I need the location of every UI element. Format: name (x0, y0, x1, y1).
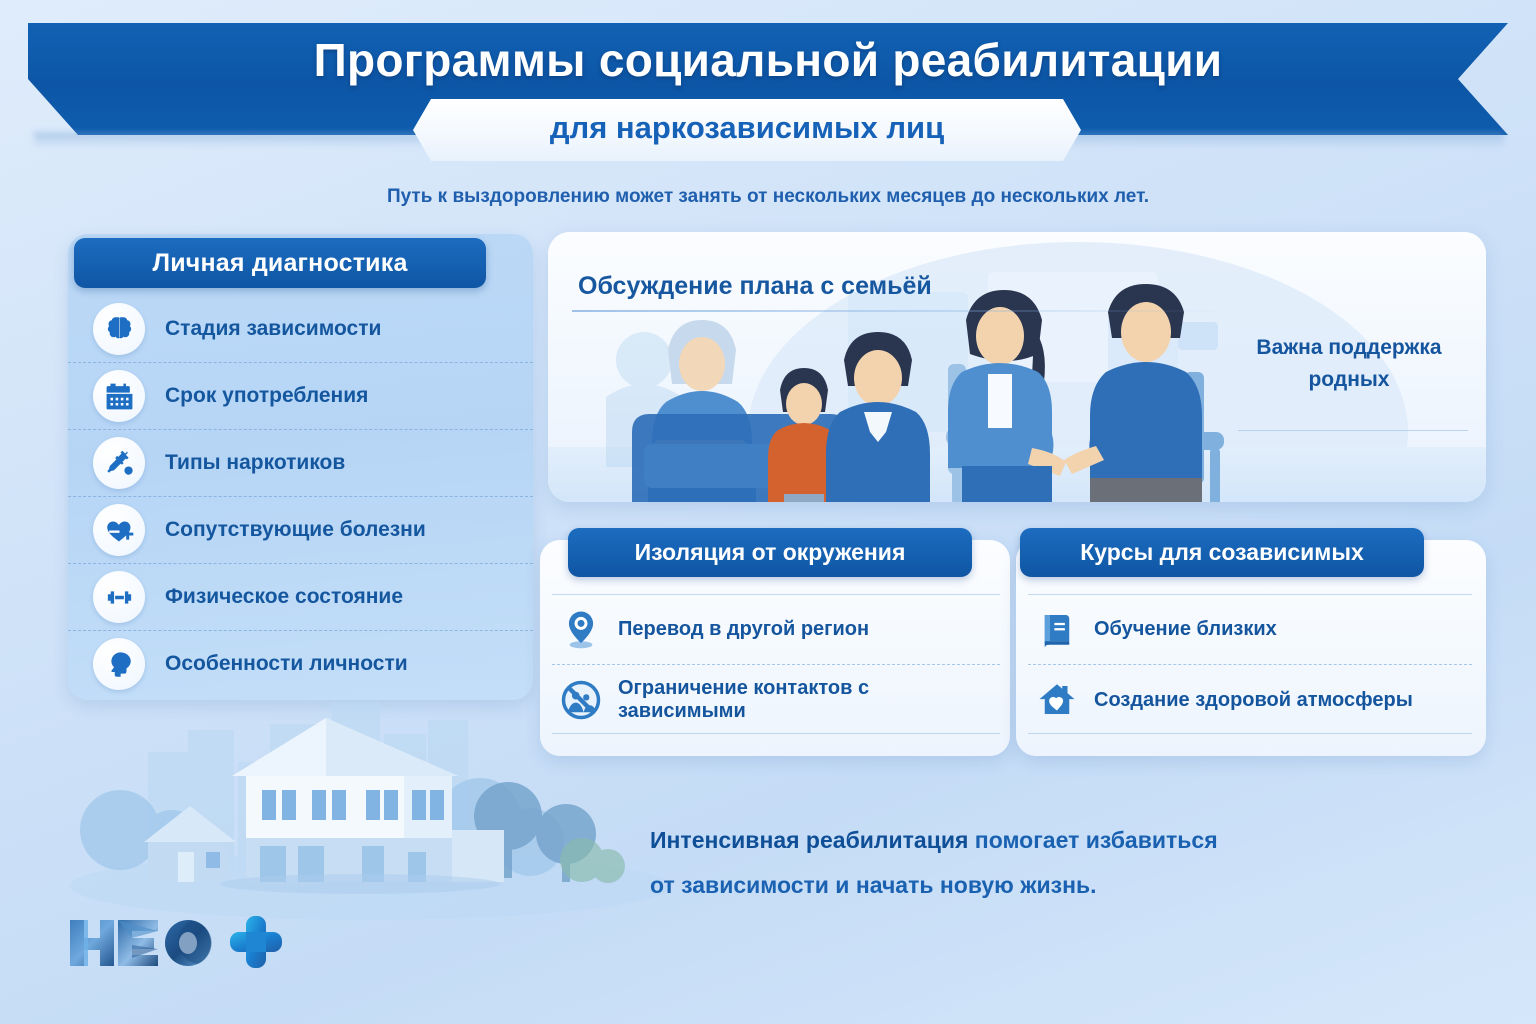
courses-list: Обучение близких Создание здоровой атмос… (1028, 594, 1472, 735)
syringe-icon (93, 437, 145, 489)
list-item-label: Особенности личности (165, 652, 408, 676)
footer-text-rest: помогает избавиться (968, 827, 1217, 853)
list-item-label: Создание здоровой атмосферы (1094, 689, 1413, 712)
isolation-badge-label: Изоляция от окружения (635, 539, 906, 566)
list-item-label: Срок употребления (165, 384, 368, 408)
list-item[interactable]: Сопутствующие болезни (68, 496, 533, 563)
neo-plus-logo (66, 912, 306, 974)
list-item[interactable]: Срок употребления (68, 362, 533, 429)
neighborhood-illustration (60, 690, 680, 920)
list-item[interactable]: Стадия зависимости (68, 296, 533, 362)
diagnostics-list: Стадия зависимости Срок употребления Тип… (68, 296, 533, 697)
list-item-label: Стадия зависимости (165, 317, 381, 341)
diagnostics-badge-label: Личная диагностика (152, 249, 407, 278)
note-divider (1238, 430, 1468, 431)
calendar-icon (93, 370, 145, 422)
list-item[interactable]: Перевод в другой регион (552, 594, 1000, 664)
intro-text: Путь к выздоровлению может занять от нес… (0, 186, 1536, 208)
footer-statement: Интенсивная реабилитация помогает избави… (650, 818, 1410, 908)
courses-badge: Курсы для созависимых (1020, 528, 1424, 577)
list-item-label: Обучение близких (1094, 618, 1277, 641)
page-title: Программы социальной реабилитации (0, 33, 1536, 87)
page-subtitle: для наркозависимых лиц (413, 110, 1081, 146)
list-item[interactable]: Обучение близких (1028, 594, 1472, 664)
book-icon (1034, 606, 1080, 652)
brain-icon (93, 303, 145, 355)
list-item[interactable]: Особенности личности (68, 630, 533, 697)
heart-plus-icon (93, 504, 145, 556)
diagnostics-badge: Личная диагностика (74, 238, 486, 288)
head-icon (93, 638, 145, 690)
house-heart-icon (1034, 677, 1080, 723)
isolation-badge: Изоляция от окружения (568, 528, 972, 577)
courses-bottom-divider (1028, 733, 1472, 734)
title-divider (572, 310, 1232, 312)
list-item[interactable]: Физическое состояние (68, 563, 533, 630)
list-item-label: Типы наркотиков (165, 451, 345, 475)
list-item[interactable]: Создание здоровой атмосферы (1028, 664, 1472, 735)
brand-logo[interactable] (66, 912, 306, 974)
infographic-root: Программы социальной реабилитации для на… (0, 0, 1536, 1024)
list-item[interactable]: Типы наркотиков (68, 429, 533, 496)
list-item-label: Сопутствующие болезни (165, 518, 426, 542)
family-meeting-title: Обсуждение плана с семьёй (578, 272, 932, 301)
courses-badge-label: Курсы для созависимых (1080, 539, 1364, 566)
footer-line-2: от зависимости и начать новую жизнь. (650, 863, 1410, 908)
footer-bold-lead: Интенсивная реабилитация (650, 827, 968, 853)
map-pin-icon (558, 606, 604, 652)
family-support-note: Важна поддержка родных (1230, 332, 1468, 395)
dumbbell-icon (93, 571, 145, 623)
list-item-label: Перевод в другой регион (618, 618, 869, 641)
list-item-label: Физическое состояние (165, 585, 403, 609)
